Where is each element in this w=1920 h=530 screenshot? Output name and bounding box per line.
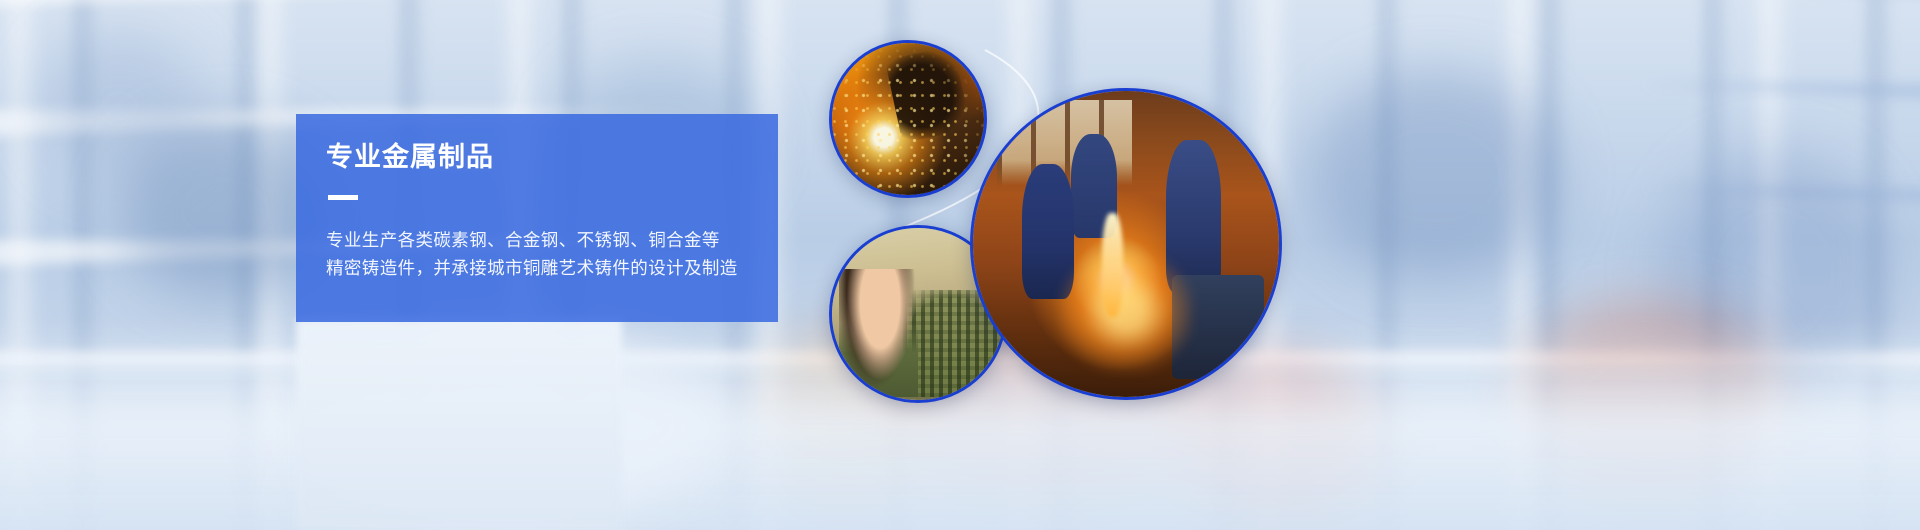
foundry-molten-glow bbox=[1059, 250, 1194, 372]
hero-banner: 专业金属制品 专业生产各类碳素钢、合金钢、不锈钢、铜合金等 精密铸造件，并承接城… bbox=[0, 0, 1920, 530]
background-machine-block bbox=[296, 318, 622, 530]
description-line-1: 专业生产各类碳素钢、合金钢、不锈钢、铜合金等 bbox=[326, 226, 778, 254]
title-divider bbox=[328, 195, 358, 200]
text-panel: 专业金属制品 专业生产各类碳素钢、合金钢、不锈钢、铜合金等 精密铸造件，并承接城… bbox=[296, 114, 778, 322]
background-blur-blob bbox=[1310, 70, 1560, 280]
inspection-worker bbox=[839, 269, 918, 396]
foundry-molten-pour bbox=[1102, 213, 1123, 317]
welding-photo bbox=[829, 40, 987, 198]
page-title: 专业金属制品 bbox=[326, 144, 778, 171]
foundry-photo bbox=[970, 88, 1282, 400]
description-line-2: 精密铸造件，并承接城市铜雕艺术铸件的设计及制造 bbox=[326, 254, 778, 282]
welding-sparks bbox=[832, 43, 984, 195]
panel-description: 专业生产各类碳素钢、合金钢、不锈钢、铜合金等 精密铸造件，并承接城市铜雕艺术铸件… bbox=[326, 226, 778, 283]
